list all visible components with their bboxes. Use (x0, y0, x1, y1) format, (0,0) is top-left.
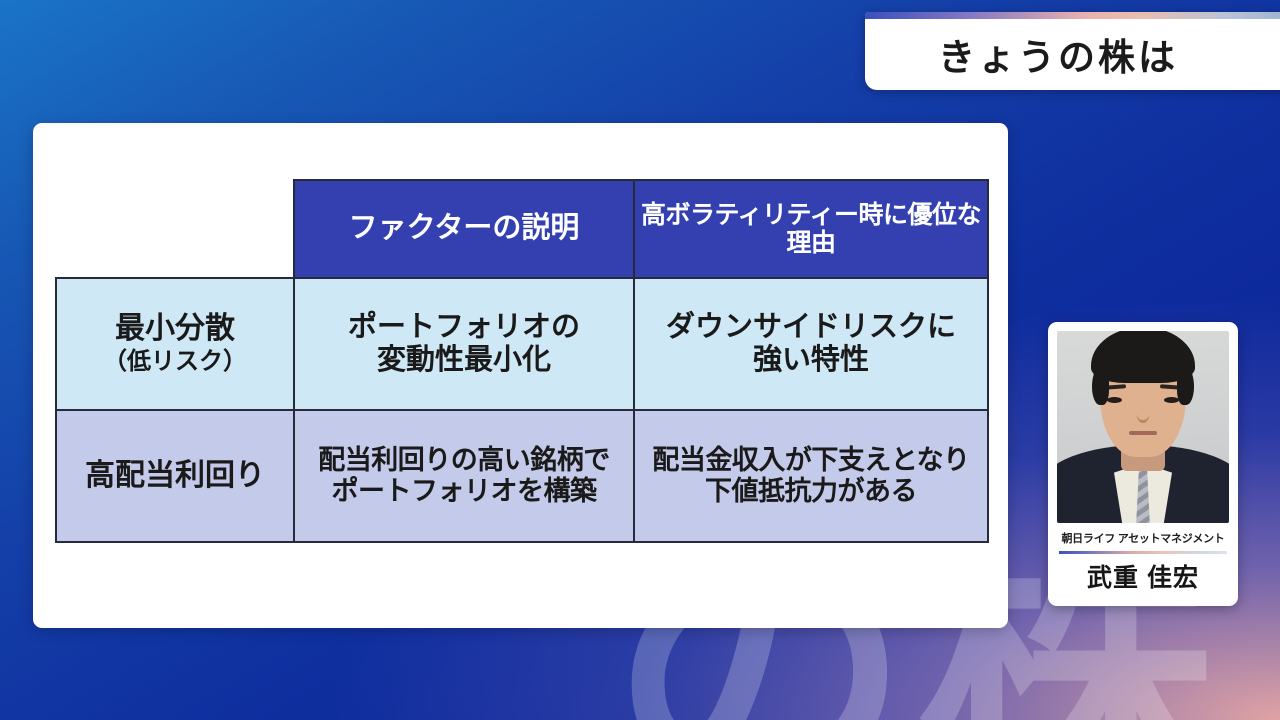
portrait-nose (1137, 404, 1150, 423)
guest-company-name: 朝日ライフ アセットマネジメント (1057, 530, 1229, 546)
table-row: 最小分散 （低リスク） ポートフォリオの変動性最小化 ダウンサイドリスクに強い特… (56, 278, 988, 410)
broadcast-graphic-stage: の株 きょうの株は ファクターの説明 高ボラティリティー時に優位な理由 (0, 0, 1280, 720)
portrait-eye-right (1164, 397, 1179, 403)
guest-person-name: 武重 佳宏 (1057, 558, 1229, 594)
cell-description-min-variance: ポートフォリオの変動性最小化 (294, 278, 634, 410)
table-body: 最小分散 （低リスク） ポートフォリオの変動性最小化 ダウンサイドリスクに強い特… (56, 278, 988, 542)
guest-portrait-photo (1057, 331, 1229, 523)
column-header-description: ファクターの説明 (294, 180, 634, 278)
cell-reason-min-variance: ダウンサイドリスクに強い特性 (634, 278, 988, 410)
title-banner: きょうの株は (865, 12, 1280, 90)
column-header-reason: 高ボラティリティー時に優位な理由 (634, 180, 988, 278)
cell-description-high-dividend: 配当利回りの高い銘柄でポートフォリオを構築 (294, 410, 634, 542)
page-title: きょうの株は (938, 22, 1212, 81)
content-panel: ファクターの説明 高ボラティリティー時に優位な理由 最小分散 （低リスク） ポー… (33, 123, 1008, 628)
row-label-min-variance: 最小分散 （低リスク） (56, 278, 294, 410)
table-head: ファクターの説明 高ボラティリティー時に優位な理由 (56, 180, 988, 278)
factor-comparison-table: ファクターの説明 高ボラティリティー時に優位な理由 最小分散 （低リスク） ポー… (55, 179, 989, 543)
cell-reason-high-dividend: 配当金収入が下支えとなり下値抵抗力がある (634, 410, 988, 542)
portrait-mouth (1129, 431, 1157, 435)
guest-card-divider (1059, 551, 1227, 554)
table-corner-cell (56, 180, 294, 278)
guest-commentator-card: 朝日ライフ アセットマネジメント 武重 佳宏 (1048, 322, 1238, 606)
row-label-high-dividend: 高配当利回り (56, 410, 294, 542)
row-label-sub: （低リスク） (63, 348, 287, 375)
portrait-hair (1091, 331, 1195, 383)
banner-gradient-strip (865, 12, 1280, 19)
row-label-main: 高配当利回り (85, 459, 265, 492)
table-row: 高配当利回り 配当利回りの高い銘柄でポートフォリオを構築 配当金収入が下支えとな… (56, 410, 988, 542)
portrait-eye-left (1107, 397, 1122, 403)
table-header-row: ファクターの説明 高ボラティリティー時に優位な理由 (56, 180, 988, 278)
row-label-main: 最小分散 (115, 312, 235, 345)
